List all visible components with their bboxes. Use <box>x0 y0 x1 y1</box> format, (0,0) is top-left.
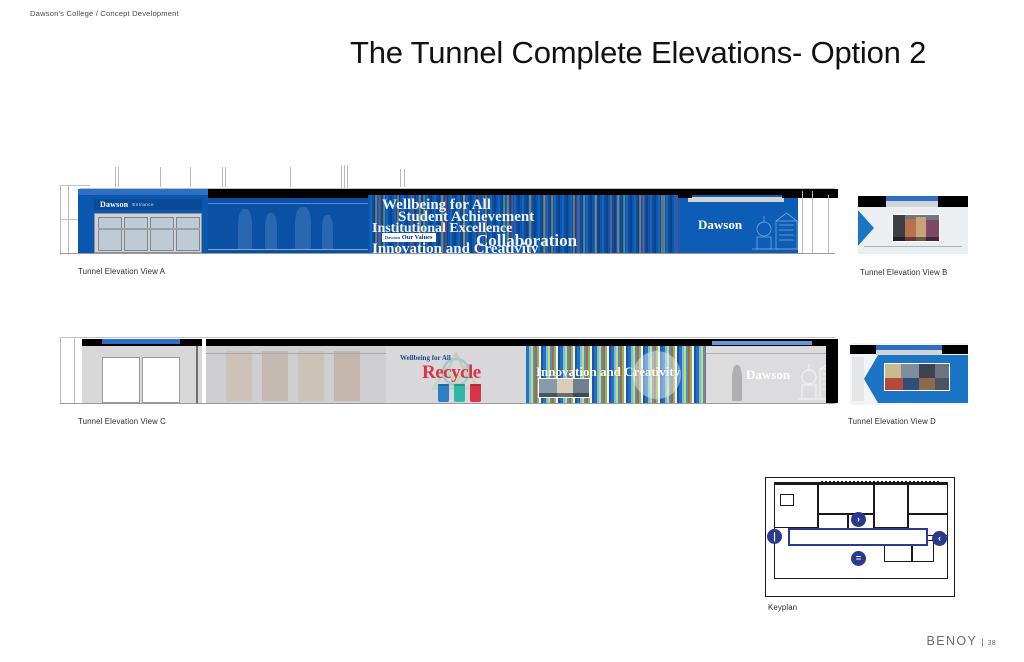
badge-logo: Dawson <box>385 235 400 240</box>
caption-view-c: Tunnel Elevation View C <box>78 417 166 426</box>
page-number: 38 <box>988 640 996 647</box>
elevation-view-a: Dawson Entrance Wellbeing for All Studen… <box>60 165 835 260</box>
slide-canvas: Dawson's College / Concept Development T… <box>0 0 1024 662</box>
recycle-bin <box>438 384 449 402</box>
values-graphic: Wellbeing for All Student Achievement In… <box>368 195 678 253</box>
ceiling-hanger <box>347 165 348 189</box>
ceiling-hanger <box>118 167 119 187</box>
recycle-bin <box>470 384 481 402</box>
page-title: The Tunnel Complete Elevations- Option 2 <box>350 34 1000 72</box>
thumbnail-view-d <box>850 343 968 405</box>
light-cove <box>886 201 938 207</box>
caption-view-b: Tunnel Elevation View B <box>860 268 948 277</box>
ceiling-hanger <box>190 167 191 187</box>
ceiling-hanger <box>222 167 223 187</box>
door-glass-panel <box>98 217 122 251</box>
marker-view-c[interactable]: ❘ <box>767 529 782 544</box>
entrance-sign: Dawson Entrance <box>94 199 202 210</box>
ceiling-hanger <box>160 167 161 187</box>
caption-view-d: Tunnel Elevation View D <box>848 417 936 426</box>
light-cove <box>712 341 812 345</box>
tunnel-corridor-highlight <box>788 528 928 546</box>
ground-line <box>60 403 835 404</box>
end-wall <box>826 339 838 403</box>
building-lineart-icon <box>752 207 798 251</box>
keyplan-diagram: ❘ › ‹ = <box>765 477 955 597</box>
sign-subtitle: Entrance <box>132 202 154 207</box>
marker-view-b[interactable]: ‹ <box>932 531 947 546</box>
door-glass-panel <box>176 217 200 251</box>
soffit-shadow <box>782 189 798 198</box>
value-word-innovation: Innovation and Creativity <box>372 241 538 253</box>
panel-joint <box>208 203 368 204</box>
recycle-graphic: Wellbeing for All Recycle <box>386 346 526 403</box>
breadcrumb: Dawson's College / Concept Development <box>30 9 179 18</box>
grid-line <box>812 191 813 253</box>
footer-separator: | <box>981 637 983 647</box>
column <box>196 346 198 403</box>
ceiling-hanger <box>225 167 226 187</box>
figure-silhouette <box>732 365 742 401</box>
sign-brand: Dawson <box>100 200 128 209</box>
thumbnail-view-b <box>858 196 968 254</box>
soffit-shadow <box>180 339 202 346</box>
grid-line <box>60 185 61 255</box>
panel-joint <box>706 353 838 354</box>
innovation-graphic: Innovation and Creativity <box>526 346 706 403</box>
figure-silhouette <box>238 209 252 249</box>
grid-line <box>60 337 61 403</box>
soffit-shadow <box>938 196 968 207</box>
ground-line <box>60 253 835 254</box>
grid-line <box>828 195 829 253</box>
panel-joint <box>206 353 386 354</box>
grid-line <box>74 337 75 403</box>
wall-image <box>334 351 360 401</box>
our-values-badge: Dawson Our Values <box>382 233 436 242</box>
soffit-shadow <box>678 189 692 198</box>
wall-image <box>226 351 252 401</box>
ceiling-line <box>60 337 835 338</box>
footer: BENOY | 38 <box>927 634 997 648</box>
ceiling-hanger <box>344 165 345 189</box>
panel-joint <box>208 249 368 250</box>
marker-view-a[interactable]: › <box>851 512 866 527</box>
light-cove <box>688 197 784 202</box>
caption-keyplan: Keyplan <box>768 603 797 612</box>
dawson-wordmark: Dawson <box>746 367 790 383</box>
door-opening <box>142 357 180 403</box>
soffit-shadow <box>942 345 968 354</box>
photo-panel <box>892 214 940 242</box>
door-transom <box>98 228 200 230</box>
wall-image <box>298 351 324 401</box>
chevron-arrow-icon <box>858 208 882 248</box>
soffit-shadow <box>858 196 886 207</box>
ceiling-hanger <box>341 165 342 189</box>
entrance-door-assembly <box>94 213 202 253</box>
door-glass-panel <box>124 217 148 251</box>
side-panel <box>852 357 864 401</box>
ceiling-hanger <box>400 169 401 187</box>
figure-silhouette <box>295 207 311 249</box>
door-glass-panel <box>150 217 174 251</box>
marker-view-d[interactable]: = <box>851 551 866 566</box>
soffit-shadow <box>850 345 876 354</box>
recycle-word: Recycle <box>422 362 481 384</box>
caption-view-a: Tunnel Elevation View A <box>78 267 165 276</box>
recycle-bin <box>454 384 465 402</box>
figure-silhouette <box>322 215 333 249</box>
grid-line <box>68 185 69 255</box>
recycle-headline: Wellbeing for All <box>400 354 451 362</box>
ceiling-hanger <box>115 167 116 187</box>
ceiling-hanger <box>404 169 405 187</box>
badge-label: Our Values <box>402 234 433 241</box>
wall-image <box>262 351 288 401</box>
dawson-wordmark: Dawson <box>698 217 742 233</box>
photo-collage <box>884 363 950 391</box>
door-opening <box>102 357 140 403</box>
elevation-view-c: Wellbeing for All Recycle Innovation and… <box>60 325 835 410</box>
photo-panel <box>538 378 590 398</box>
grid-line <box>802 191 803 253</box>
figure-silhouette <box>265 213 277 249</box>
benoy-logo: BENOY <box>927 634 978 648</box>
facade-panel-left <box>208 198 368 253</box>
ceiling-hanger <box>290 167 291 187</box>
grid-line <box>60 185 90 186</box>
